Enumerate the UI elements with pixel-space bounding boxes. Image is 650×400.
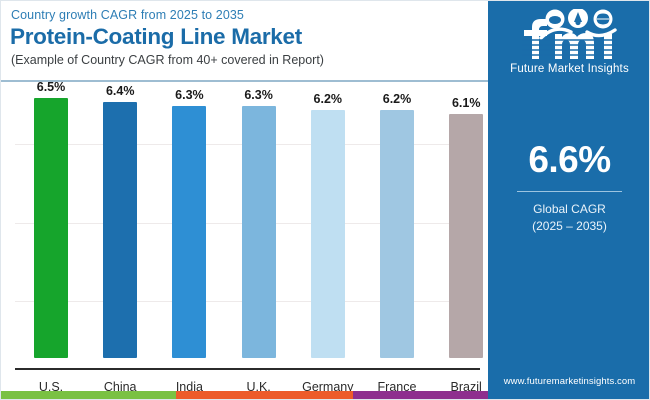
bar-group: 6.4%China <box>103 102 137 358</box>
bar[interactable] <box>172 106 206 358</box>
global-cagr-period: (2025 – 2035) <box>488 218 650 235</box>
chart-region: Country growth CAGR from 2025 to 2035 Pr… <box>1 1 488 400</box>
x-axis-line <box>15 368 480 370</box>
bar[interactable] <box>449 114 483 358</box>
infographic-page: Country growth CAGR from 2025 to 2035 Pr… <box>0 0 650 400</box>
brand-panel: Future Market Insights 6.6% Global CAGR … <box>488 1 650 400</box>
bar-value-label: 6.4% <box>89 84 151 98</box>
fmi-logo: Future Market Insights <box>488 9 650 75</box>
stripe-segment-green <box>1 391 176 400</box>
stripe-segment-purple <box>353 391 488 400</box>
bar[interactable] <box>34 98 68 358</box>
cagr-divider <box>517 191 622 192</box>
bar-value-label: 6.5% <box>20 80 82 94</box>
bar-value-label: 6.2% <box>366 92 428 106</box>
bar-chart-plot: 6.5%U.S.6.4%China6.3%India6.3%U.K.6.2%Ge… <box>1 83 488 373</box>
subtitle-text: (Example of Country CAGR from 40+ covere… <box>11 53 324 67</box>
bar[interactable] <box>311 110 345 358</box>
bar-group: 6.2%France <box>380 110 414 358</box>
bar[interactable] <box>380 110 414 358</box>
global-cagr-value: 6.6% <box>488 141 650 178</box>
bar-value-label: 6.3% <box>158 88 220 102</box>
global-cagr-block: 6.6% Global CAGR (2025 – 2035) <box>488 141 650 236</box>
eyebrow-text: Country growth CAGR from 2025 to 2035 <box>11 8 244 22</box>
fmi-logo-icon <box>508 9 632 61</box>
bar-group: 6.3%India <box>172 106 206 358</box>
website-url: www.futuremarketinsights.com <box>488 376 650 387</box>
bar[interactable] <box>103 102 137 358</box>
bar-value-label: 6.3% <box>228 88 290 102</box>
chart-header: Country growth CAGR from 2025 to 2035 Pr… <box>1 1 488 81</box>
stripe-segment-orange <box>176 391 353 400</box>
page-title: Protein-Coating Line Market <box>10 24 302 50</box>
accent-stripe <box>1 391 488 400</box>
bar-group: 6.1%Brazil <box>449 114 483 358</box>
bar-group: 6.5%U.S. <box>34 98 68 358</box>
logo-tagline: Future Market Insights <box>488 63 650 75</box>
bar-value-label: 6.2% <box>297 92 359 106</box>
global-cagr-label: Global CAGR <box>488 201 650 218</box>
bar[interactable] <box>242 106 276 358</box>
bar-group: 6.3%U.K. <box>242 106 276 358</box>
bar-group: 6.2%Germany <box>311 110 345 358</box>
